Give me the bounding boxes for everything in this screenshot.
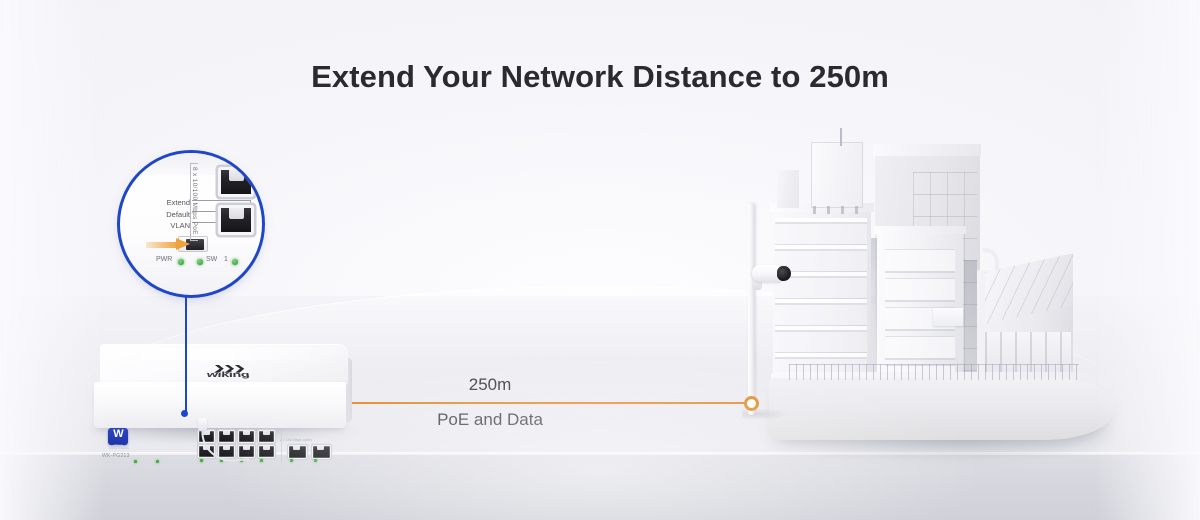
- rooftop-antenna-mast: [840, 128, 842, 146]
- camera-mounting-pole: [748, 203, 755, 415]
- ethernet-port[interactable]: [258, 430, 275, 443]
- switch-top-highlight: [110, 348, 346, 360]
- building-left-rooftop-box: [777, 170, 799, 208]
- building-roof-duct: [983, 248, 999, 270]
- callout-anchor-dot: [181, 410, 188, 417]
- building-middle-cornice: [874, 226, 966, 234]
- callout-sw-led: [197, 259, 203, 265]
- ethernet-port[interactable]: [258, 445, 275, 458]
- ip-security-camera: [752, 264, 792, 283]
- building-rooftop-billboard: [811, 142, 863, 208]
- building-complex-3d-model: [745, 120, 1135, 450]
- ground-plane-near: [0, 455, 1200, 520]
- building-rear-roof: [873, 144, 981, 156]
- power-led: [134, 460, 137, 463]
- callout-led-row: PWR SW 1: [156, 256, 264, 268]
- uplink-port[interactable]: [288, 445, 307, 459]
- cable-plug: [198, 418, 207, 430]
- building-left-floors: [775, 218, 867, 374]
- status-led: [290, 459, 293, 462]
- status-led: [260, 459, 263, 462]
- camera-lens-icon: [777, 266, 791, 281]
- switch-model-label: WK-PG213: [102, 453, 130, 459]
- page-title: Extend Your Network Distance to 250m: [0, 59, 1200, 95]
- callout-port1-led: [232, 259, 238, 265]
- switch-front-faceplate: W wiking wiking networks WK-PG213 Extend…: [94, 382, 346, 428]
- illustration-canvas: Extend Your Network Distance to 250m: [0, 0, 1200, 520]
- callout-led-label-pwr: PWR: [156, 256, 172, 263]
- port-group-divider: [281, 428, 282, 462]
- switch-brand-logo: ❯❯❯ wiking: [182, 366, 274, 380]
- link-payload-label: PoE and Data: [400, 410, 580, 430]
- ethernet-port[interactable]: [218, 205, 254, 235]
- sw-led: [156, 460, 159, 463]
- billboard-support-legs: [813, 206, 861, 214]
- callout-dip-labels: ExtendDefaultVLAN: [136, 197, 190, 232]
- building-podium-base: [769, 378, 1114, 440]
- callout-power-led: [178, 259, 184, 265]
- poe-network-switch: ❯❯❯ wiking W wiking wiking networks WK-P…: [94, 344, 350, 434]
- status-led: [314, 459, 317, 462]
- callout-led-label-sw: SW: [206, 256, 217, 263]
- building-perimeter-fence: [789, 364, 1079, 380]
- link-distance-label: 250m: [430, 375, 550, 395]
- arrow-head: [176, 238, 190, 250]
- building-gap-shadow-right: [964, 260, 977, 380]
- switch-logo-caption: wiking networks: [100, 447, 138, 450]
- callout-highlight-arrow-icon: [146, 238, 192, 251]
- switch-brand-name: wiking: [183, 371, 274, 378]
- camera-pole-endpoint: [744, 396, 759, 411]
- leader-line-extend: [192, 200, 250, 201]
- magnified-detail-callout: ExtendDefaultVLAN 8 x 10/100 Mbps PoE PW…: [117, 150, 265, 298]
- callout-led-label-port1: 1: [224, 256, 228, 263]
- callout-port-bank-label: 8 x 10/100 Mbps PoE: [191, 167, 198, 235]
- arrow-shaft: [146, 242, 178, 248]
- uplink-port[interactable]: [312, 445, 331, 459]
- building-facade-sign: [933, 308, 963, 326]
- ethernet-port[interactable]: [218, 167, 254, 197]
- status-led: [200, 459, 203, 462]
- callout-leader-line: [185, 296, 187, 414]
